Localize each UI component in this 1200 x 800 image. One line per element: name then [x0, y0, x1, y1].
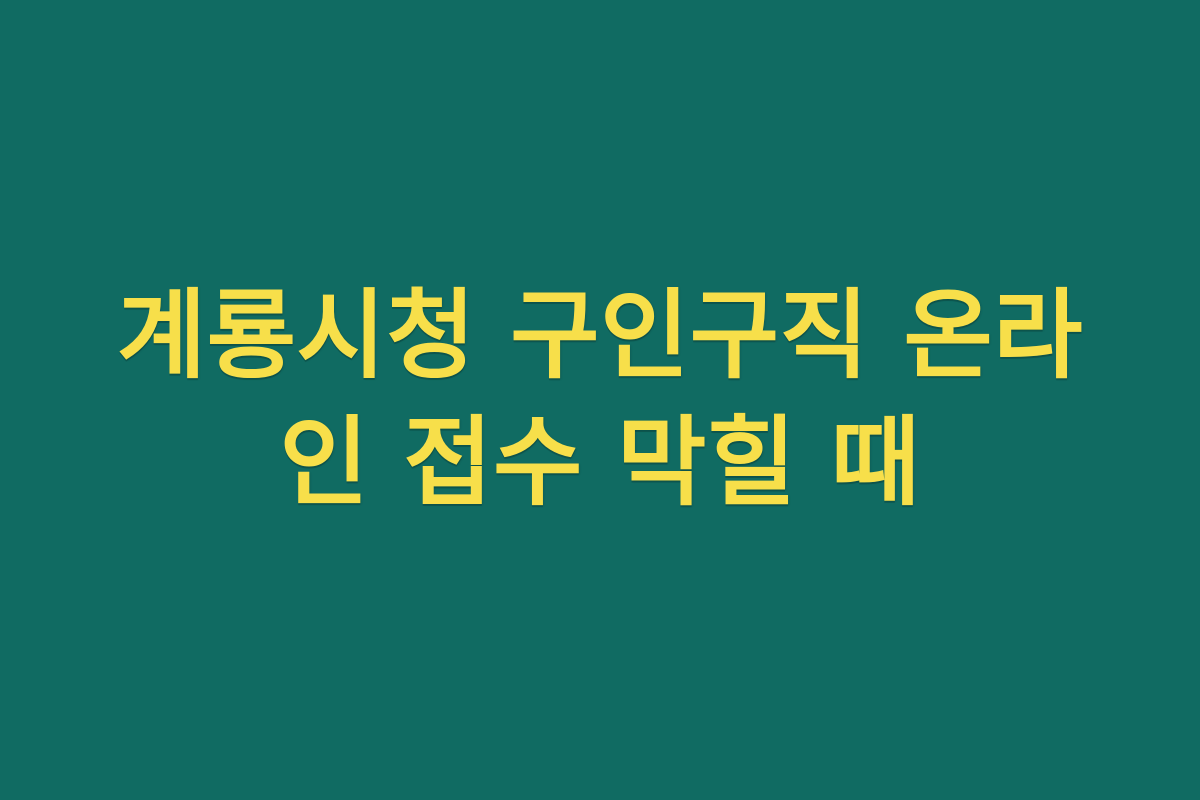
title-line-2: 인 접수 막힐 때 — [279, 409, 920, 518]
title-line-1: 계룡시청 구인구직 온라 — [117, 282, 1083, 391]
banner-canvas: 계룡시청 구인구직 온라 인 접수 막힐 때 — [0, 0, 1200, 800]
title-block: 계룡시청 구인구직 온라 인 접수 막힐 때 — [50, 282, 1150, 517]
